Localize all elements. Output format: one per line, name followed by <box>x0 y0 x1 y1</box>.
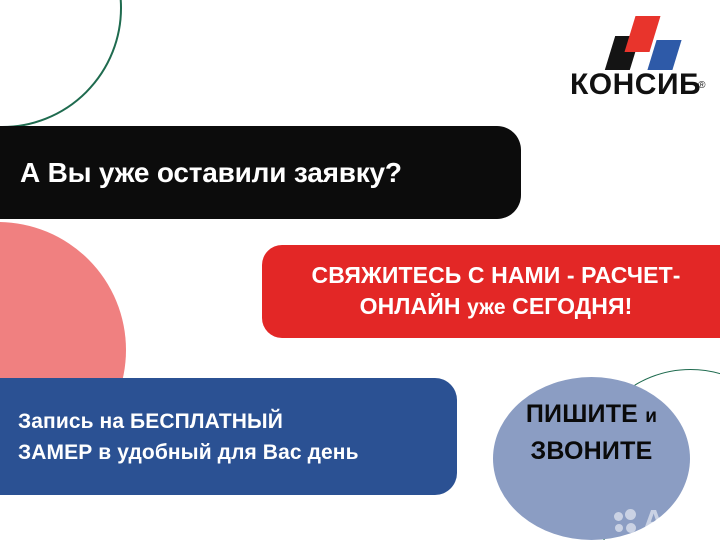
logo-wordmark: КОНСИБ® <box>570 70 706 100</box>
registered-trademark-icon: ® <box>698 71 706 101</box>
logo-brand-name: КОНСИБ <box>570 68 701 101</box>
measure-line-1: Запись на БЕСПЛАТНЫЙ <box>18 410 283 433</box>
avito-wordmark: Avito <box>643 507 712 536</box>
free-measurement-banner: Запись на БЕСПЛАТНЫЙ ЗАМЕР в удобный для… <box>0 378 457 495</box>
logo-parallelogram-blue-icon <box>647 40 681 70</box>
contact-text: СВЯЖИТЕСЬ С НАМИ - РАСЧЕТ- ОНЛАЙН уже СЕ… <box>312 260 691 323</box>
headline-banner: А Вы уже оставили заявку? <box>0 126 521 219</box>
logo-mark-icon <box>570 16 706 68</box>
contact-line-2-already: уже <box>467 296 506 319</box>
contact-line-2-online: ОНЛАЙН <box>360 293 461 319</box>
contact-line-2-today: СЕГОДНЯ! <box>512 293 632 319</box>
avito-watermark: Avito <box>614 507 712 536</box>
contact-line-1: СВЯЖИТЕСЬ С НАМИ - РАСЧЕТ- <box>312 262 681 288</box>
call-circle-conjunction: и <box>645 406 657 427</box>
promo-poster: КОНСИБ® А Вы уже оставили заявку? СВЯЖИТ… <box>0 0 720 540</box>
decorative-ring-top-left-icon <box>0 0 122 128</box>
call-circle-call: ЗВОНИТЕ <box>531 437 653 465</box>
headline-text: А Вы уже оставили заявку? <box>0 157 402 189</box>
brand-logo: КОНСИБ® <box>570 16 706 102</box>
call-circle-write: ПИШИТЕ <box>526 400 638 428</box>
measure-line-2: ЗАМЕР в удобный для Вас день <box>18 441 359 464</box>
contact-banner: СВЯЖИТЕСЬ С НАМИ - РАСЧЕТ- ОНЛАЙН уже СЕ… <box>262 245 720 338</box>
avito-dots-icon <box>614 509 640 535</box>
call-circle-text: ПИШИТЕ и ЗВОНИТЕ <box>493 397 690 469</box>
free-measurement-text: Запись на БЕСПЛАТНЫЙ ЗАМЕР в удобный для… <box>0 406 359 468</box>
